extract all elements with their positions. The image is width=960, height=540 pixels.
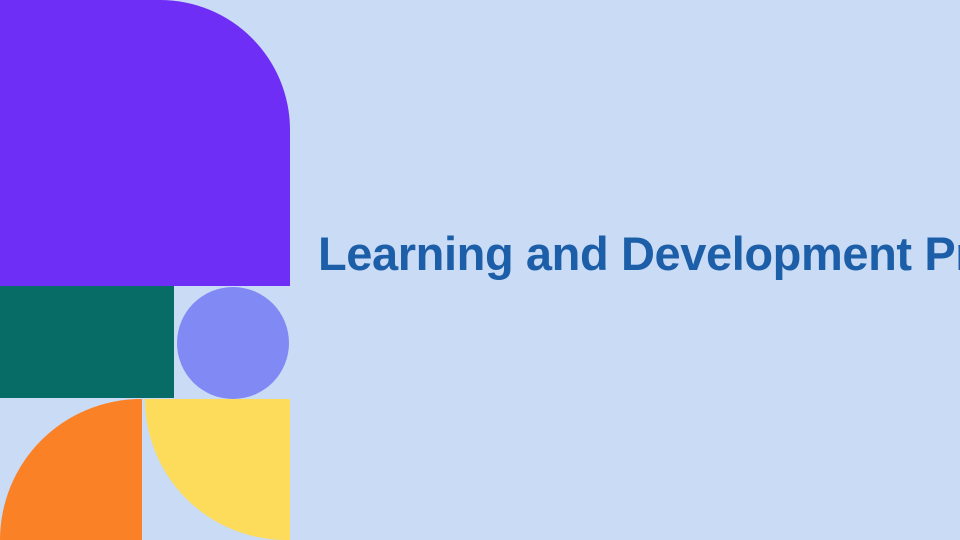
decorative-shape-cluster: [0, 0, 292, 540]
teal-rectangle-shape: [0, 286, 174, 398]
title-block: Learning and Development Project: [318, 206, 938, 302]
title-slide: Learning and Development Project: [0, 0, 960, 540]
purple-rounded-panel-shape: [0, 0, 290, 286]
slide-title: Learning and Development Project: [318, 228, 960, 281]
orange-quarter-round-shape: [0, 399, 142, 540]
periwinkle-circle-shape: [177, 287, 289, 399]
yellow-quarter-round-shape: [145, 399, 290, 540]
